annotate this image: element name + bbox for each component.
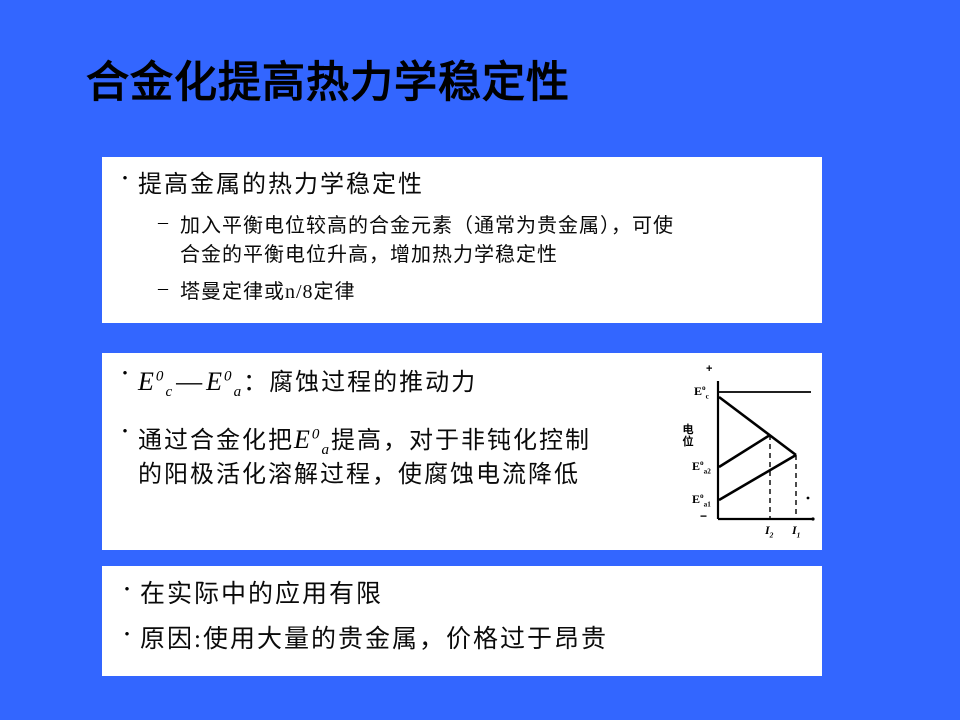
bullet-item: • 原因:使用大量的贵金属，价格过于昂贵 xyxy=(114,627,822,652)
x-axis-end-dot xyxy=(811,517,814,520)
label-ea1-superscript: o xyxy=(700,492,704,500)
formula-ea: E0a xyxy=(294,425,331,454)
label-i1: I1 xyxy=(792,523,800,539)
content-box-1: • 提高金属的热力学稳定性 – 加入平衡电位较高的合金元素（通常为贵金属），可使… xyxy=(102,157,822,323)
label-i2: I2 xyxy=(765,523,773,539)
formula-e-superscript: 0 xyxy=(312,426,322,442)
bullet-text: 在实际中的应用有限 xyxy=(140,582,383,607)
formula-operator: — xyxy=(174,367,206,396)
label-ea2: Eoa2 xyxy=(692,459,711,475)
bullet-dot-glyph: • xyxy=(124,627,129,643)
cathodic-polarization-curve xyxy=(719,397,796,455)
content-box-2: • E0c—E0a：腐蚀过程的推动力 • 通过合金化把E0a提高，对于非钝化控制… xyxy=(102,353,822,550)
sub-bullet-text: 加入平衡电位较高的合金元素（通常为贵金属），可使 合金的平衡电位升高，增加热力学… xyxy=(180,212,674,270)
bullet-dot-glyph: • xyxy=(122,366,127,382)
label-ec: Eoc xyxy=(694,384,709,400)
content-box-3: • 在实际中的应用有限 • 原因:使用大量的贵金属，价格过于昂贵 xyxy=(102,566,822,676)
sub-bullet-line-2: 合金的平衡电位升高，增加热力学稳定性 xyxy=(180,241,674,270)
anodic-polarization-curve-1 xyxy=(719,455,796,500)
sub-bullet-line-1: 加入平衡电位较高的合金元素（通常为贵金属），可使 xyxy=(180,212,674,241)
formula-e-subscript: c xyxy=(165,384,174,400)
formula-e-base: E xyxy=(206,367,224,396)
bullet-text-prefix: 通过合金化把 xyxy=(138,428,294,454)
label-ea2-base: E xyxy=(692,459,700,473)
formula-e-superscript: 0 xyxy=(156,368,166,384)
label-ec-superscript: o xyxy=(702,384,706,392)
formula-e-base: E xyxy=(294,425,312,454)
sub-bullet-item: – 塔曼定律或n/8定律 xyxy=(158,278,822,307)
label-ec-subscript: c xyxy=(706,392,709,400)
label-ea1-base: E xyxy=(692,492,700,506)
bullet-dot-icon: • xyxy=(114,582,140,598)
formula-e-superscript: 0 xyxy=(224,368,234,384)
bullet-text: 原因:使用大量的贵金属，价格过于昂贵 xyxy=(140,627,608,652)
bullet-text: 通过合金化把E0a提高，对于非钝化控制 的阳极活化溶解过程，使腐蚀电流降低 xyxy=(138,424,591,490)
dash-marker-icon: – xyxy=(158,212,180,232)
bullet-text-middle: 提高，对于非钝化控制 xyxy=(331,428,591,454)
bullet-text-continued: 的阳极活化溶解过程，使腐蚀电流降低 xyxy=(138,460,591,490)
bullet-text-label: 腐蚀过程的推动力 xyxy=(269,370,477,396)
bullet-dot-glyph: • xyxy=(122,171,127,187)
formula-e-subscript: a xyxy=(321,442,331,458)
label-ea1-subscript: a1 xyxy=(704,500,711,508)
formula-ec-minus-ea: E0c—E0a xyxy=(138,367,243,396)
formula-e-base: E xyxy=(138,367,156,396)
bullet-text: E0c—E0a：腐蚀过程的推动力 xyxy=(138,366,477,402)
bullet-dot-glyph: • xyxy=(124,582,129,598)
bullet-dot-icon: • xyxy=(112,366,138,382)
label-i2-subscript: 2 xyxy=(770,530,774,539)
label-ec-base: E xyxy=(694,384,702,398)
label-i1-subscript: 1 xyxy=(797,530,801,539)
bullet-dot-icon: • xyxy=(114,627,140,643)
label-ea2-subscript: a2 xyxy=(704,467,711,475)
anodic-polarization-curve-2 xyxy=(719,435,770,467)
dash-marker-icon: – xyxy=(158,278,180,298)
plot-stray-dot xyxy=(807,497,810,500)
bullet-dot-icon: • xyxy=(112,424,138,440)
formula-e-subscript: a xyxy=(234,384,244,400)
bullet-dot-glyph: • xyxy=(122,424,127,440)
bullet-dot-icon: • xyxy=(112,171,138,187)
evans-polarization-diagram: 电位 xyxy=(680,359,820,547)
bullet-item: • 提高金属的热力学稳定性 xyxy=(112,171,822,200)
label-ea2-superscript: o xyxy=(700,459,704,467)
bullet-item: • 在实际中的应用有限 xyxy=(114,582,822,607)
label-ea1: Eoa1 xyxy=(692,492,711,508)
plus-sign-label: + xyxy=(706,363,712,375)
minus-sign-label: − xyxy=(700,509,707,523)
slide-canvas: 合金化提高热力学稳定性 • 提高金属的热力学稳定性 – 加入平衡电位较高的合金元… xyxy=(0,0,960,720)
y-axis-label: 电位 xyxy=(680,425,696,448)
sub-bullet-item: – 加入平衡电位较高的合金元素（通常为贵金属），可使 合金的平衡电位升高，增加热… xyxy=(158,212,822,270)
formula-colon: ： xyxy=(243,370,269,396)
page-title: 合金化提高热力学稳定性 xyxy=(86,60,570,107)
sub-bullet-text: 塔曼定律或n/8定律 xyxy=(180,278,356,307)
bullet-text: 提高金属的热力学稳定性 xyxy=(138,171,424,200)
